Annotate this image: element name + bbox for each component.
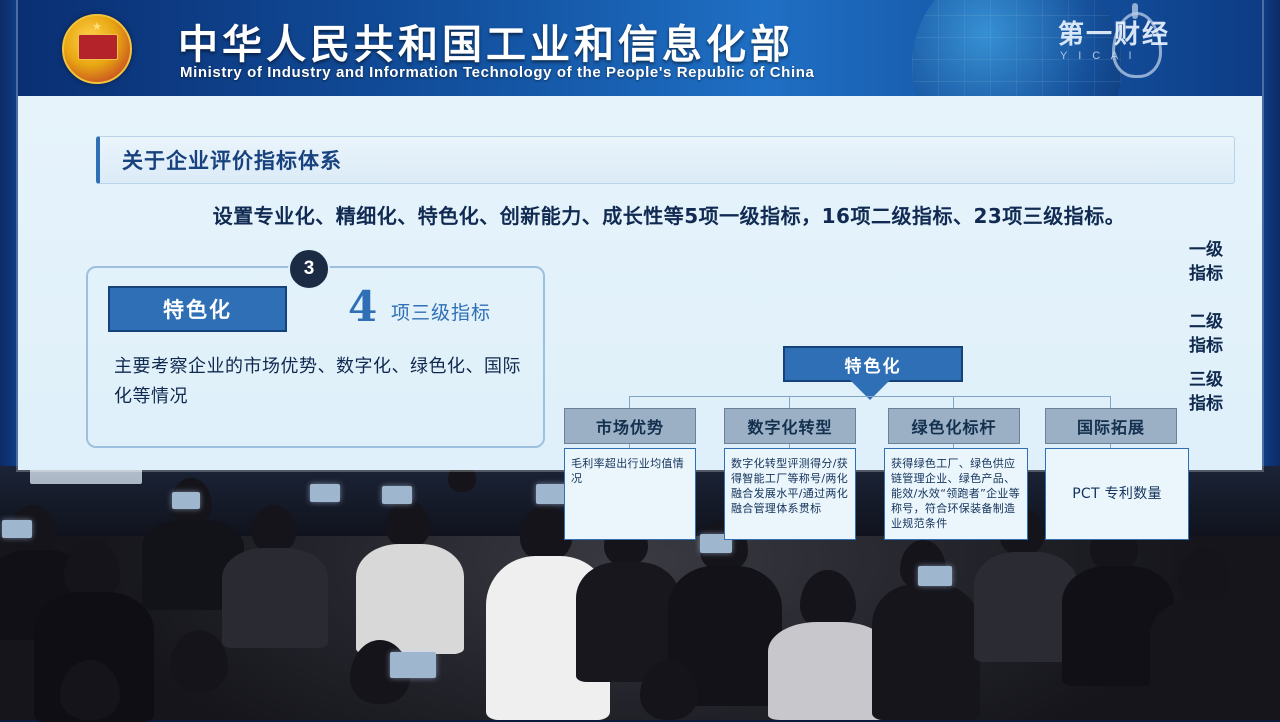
broadcaster-name-cn: 第一财经 [1058, 14, 1170, 51]
slide-body: 关于企业评价指标体系 设置专业化、精细化、特色化、创新能力、成长性等5项一级指标… [18, 96, 1262, 470]
level3-node-1: 毛利率超出行业均值情况 [564, 448, 696, 540]
chart-connector-1 [629, 396, 630, 408]
step-number-badge: 3 [288, 248, 330, 290]
chart-connector-2 [789, 396, 790, 408]
projection-screen: ★ 中华人民共和国工业和信息化部 Ministry of Industry an… [18, 0, 1262, 470]
level3-node-2: 数字化转型评测得分/获得智能工厂等称号/两化融合发展水平/通过两化融合管理体系贯… [724, 448, 856, 540]
left-description: 主要考察企业的市场优势、数字化、绿色化、国际化等情况 [114, 352, 534, 412]
slide-header-band: ★ 中华人民共和国工业和信息化部 Ministry of Industry an… [18, 0, 1262, 96]
level2-node-3: 绿色化标杆 [888, 408, 1020, 444]
left-indicator-count-label: 项三级指标 [391, 298, 491, 325]
chart-connector-horizontal [629, 396, 1111, 397]
axis-label-level1: 一级 指标 [1178, 238, 1234, 286]
axis-label-level3: 三级 指标 [1178, 368, 1234, 416]
chart-top-node: 特色化 [783, 346, 963, 382]
left-indicator-count: 4 [348, 282, 377, 331]
broadcaster-name-en: Y I C A I [1060, 50, 1136, 62]
emblem-gate [78, 34, 118, 60]
left-category-tag-label: 特色化 [163, 294, 232, 324]
slide-lead-text: 设置专业化、精细化、特色化、创新能力、成长性等5项一级指标，16项二级指标、23… [114, 200, 1224, 229]
slide-title-bar: 关于企业评价指标体系 [96, 136, 1235, 184]
chart-connector-4 [1110, 396, 1111, 408]
screenshot-stage: 2024年绿色智能中小企业发展大会 [0, 0, 1280, 720]
level2-node-4-label: 国际拓展 [1077, 414, 1145, 438]
level3-node-3: 获得绿色工厂、绿色供应链管理企业、绿色产品、能效/水效“领跑者”企业等称号，符合… [884, 448, 1028, 540]
level2-node-2: 数字化转型 [724, 408, 856, 444]
emblem-star: ★ [92, 22, 102, 33]
level2-node-2-label: 数字化转型 [747, 414, 832, 438]
ministry-title-cn: 中华人民共和国工业和信息化部 [178, 12, 794, 70]
level2-node-4: 国际拓展 [1045, 408, 1177, 444]
left-category-tag: 特色化 [108, 286, 287, 332]
slide-title: 关于企业评价指标体系 [100, 145, 342, 175]
chart-connector-3 [953, 396, 954, 408]
ministry-title-en: Ministry of Industry and Information Tec… [180, 64, 814, 81]
axis-label-level2: 二级 指标 [1178, 310, 1234, 358]
national-emblem-icon: ★ [62, 14, 132, 84]
level2-node-3-label: 绿色化标杆 [911, 414, 996, 438]
level2-node-1-label: 市场优势 [596, 414, 664, 438]
level2-node-1: 市场优势 [564, 408, 696, 444]
chart-top-node-label: 特色化 [845, 352, 902, 377]
broadcaster-logo: 第一财经 Y I C A I [1058, 12, 1248, 86]
level3-node-4: PCT 专利数量 [1045, 448, 1189, 540]
